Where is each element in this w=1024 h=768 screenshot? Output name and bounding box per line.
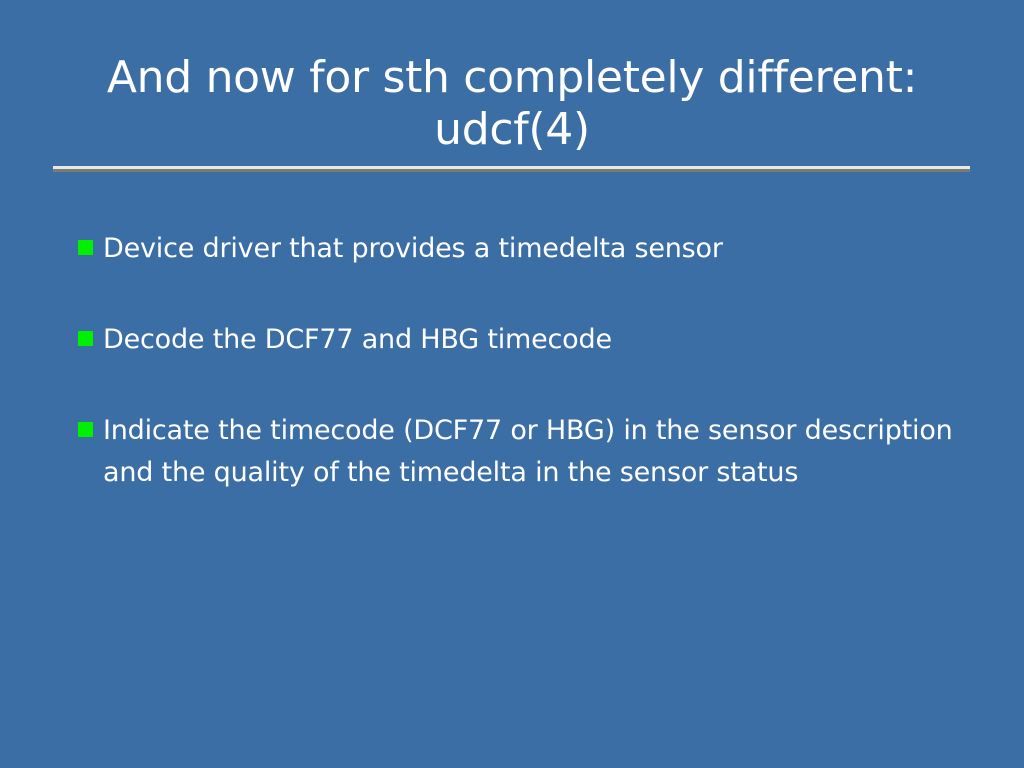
- presentation-slide: And now for sth completely different: ud…: [0, 0, 1024, 768]
- list-item: Device driver that provides a timedelta …: [76, 228, 956, 270]
- square-bullet-icon: [78, 240, 93, 255]
- list-item-label: Device driver that provides a timedelta …: [103, 228, 956, 270]
- list-item-label: Decode the DCF77 and HBG timecode: [103, 319, 956, 361]
- list-item: Indicate the timecode (DCF77 or HBG) in …: [76, 410, 956, 494]
- list-item-label: Indicate the timecode (DCF77 or HBG) in …: [103, 410, 956, 494]
- slide-title-block: And now for sth completely different: ud…: [52, 52, 972, 156]
- title-divider: [53, 166, 970, 172]
- list-item: Decode the DCF77 and HBG timecode: [76, 319, 956, 361]
- bullet-list: Device driver that provides a timedelta …: [76, 228, 956, 494]
- page-title: And now for sth completely different: ud…: [52, 52, 972, 156]
- square-bullet-icon: [78, 422, 93, 437]
- square-bullet-icon: [78, 331, 93, 346]
